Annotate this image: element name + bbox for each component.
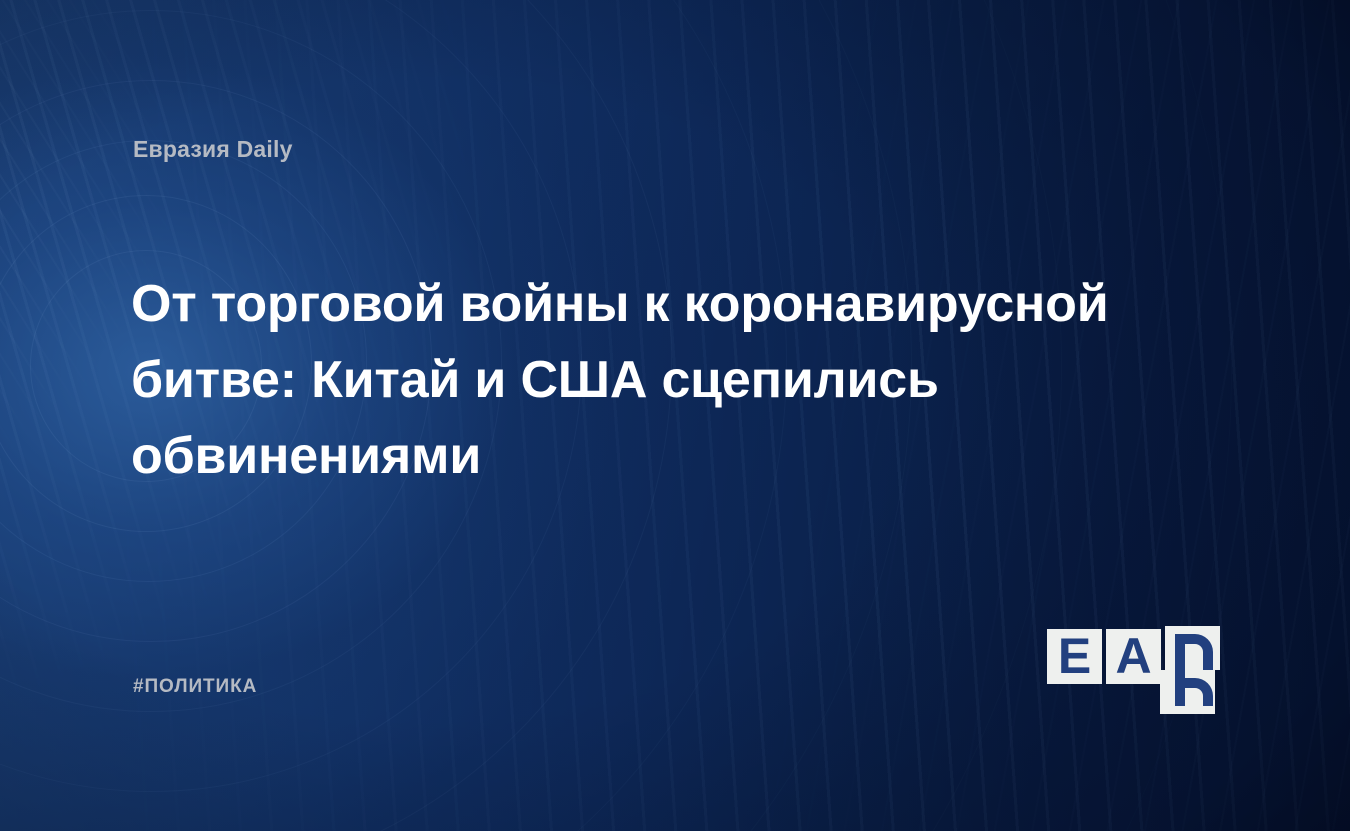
brand-label: Евразия Daily	[133, 136, 293, 163]
logo-letter-e: E	[1047, 629, 1102, 684]
logo-letter-d-upper-icon	[1165, 626, 1220, 670]
logo-letter-a: A	[1106, 629, 1161, 684]
logo-letter-d-lower-icon	[1160, 670, 1215, 714]
headline-line-3: обвинениями	[131, 418, 1191, 494]
news-share-card: Евразия Daily От торговой войны к корона…	[0, 0, 1350, 831]
headline-line-1: От торговой войны к коронавирусной	[131, 266, 1191, 342]
category-hashtag[interactable]: #ПОЛИТИКА	[133, 676, 257, 698]
headline-line-2: битве: Китай и США сцепились	[131, 342, 1191, 418]
eadaily-logo[interactable]: E A	[1047, 626, 1223, 714]
headline: От торговой войны к коронавирусной битве…	[131, 266, 1191, 494]
